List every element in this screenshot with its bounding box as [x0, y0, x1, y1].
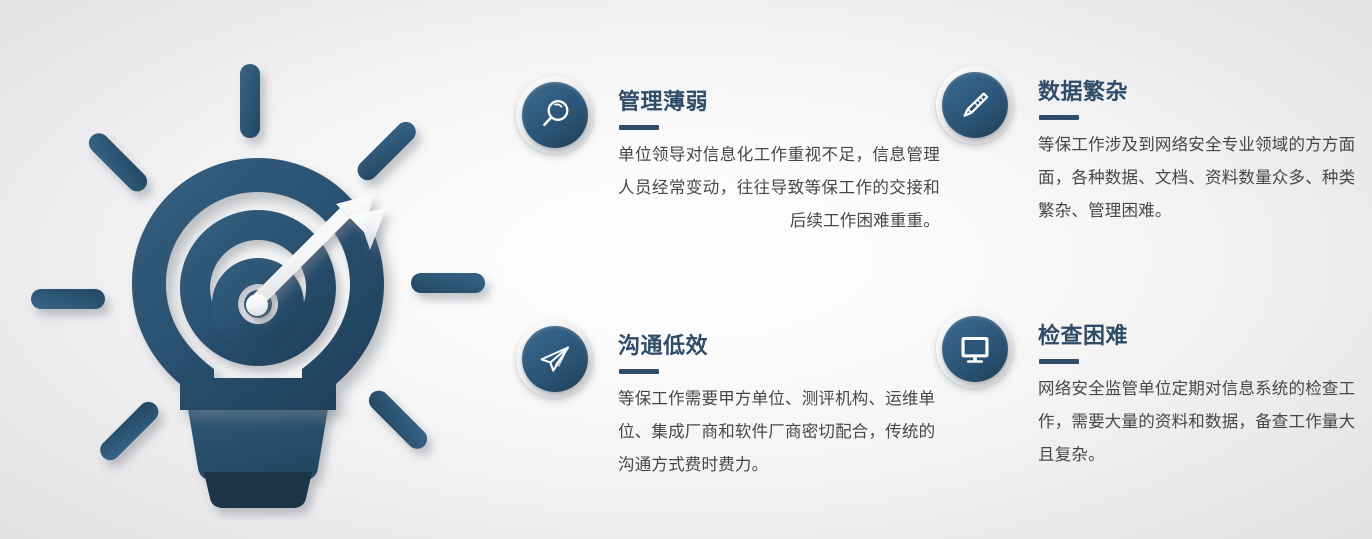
card-title: 沟通低效: [618, 333, 940, 359]
card-body: 检查困难 网络安全监管单位定期对信息系统的检查工作，需要大量的资料和数据，备查工…: [1014, 310, 1362, 472]
paper-plane-icon: [516, 320, 594, 398]
monitor-icon: [936, 310, 1014, 388]
pencil-icon: [936, 66, 1014, 144]
card-description: 单位领导对信息化工作重视不足，信息管理人员经常变动，往往导致等保工作的交接和后续…: [618, 139, 940, 238]
card-description: 等保工作涉及到网络安全专业领域的方方面面，各种数据、文档、资料数量众多、种类繁杂…: [1038, 129, 1362, 228]
pain-point-cards: 管理薄弱 单位领导对信息化工作重视不足，信息管理人员经常变动，往往导致等保工作的…: [516, 66, 1362, 496]
title-underline: [1039, 359, 1079, 364]
card-body: 管理薄弱 单位领导对信息化工作重视不足，信息管理人员经常变动，往往导致等保工作的…: [594, 76, 940, 238]
title-underline: [619, 125, 659, 130]
card-body: 沟通低效 等保工作需要甲方单位、测评机构、运维单位、集成厂商和软件厂商密切配合，…: [594, 320, 940, 482]
magnifier-icon: [516, 76, 594, 154]
infographic-stage: 管理薄弱 单位领导对信息化工作重视不足，信息管理人员经常变动，往往导致等保工作的…: [0, 0, 1372, 539]
card-communication-inefficient[interactable]: 沟通低效 等保工作需要甲方单位、测评机构、运维单位、集成厂商和软件厂商密切配合，…: [516, 320, 940, 482]
card-inspection-difficult[interactable]: 检查困难 网络安全监管单位定期对信息系统的检查工作，需要大量的资料和数据，备查工…: [936, 310, 1362, 472]
lightbulb-base: [186, 397, 330, 508]
card-data-complex[interactable]: 数据繁杂 等保工作涉及到网络安全专业领域的方方面面，各种数据、文档、资料数量众多…: [936, 66, 1362, 228]
card-management-weak[interactable]: 管理薄弱 单位领导对信息化工作重视不足，信息管理人员经常变动，往往导致等保工作的…: [516, 76, 940, 238]
target-rings: [180, 210, 336, 366]
card-description: 网络安全监管单位定期对信息系统的检查工作，需要大量的资料和数据，备查工作量大且复…: [1038, 373, 1362, 472]
card-body: 数据繁杂 等保工作涉及到网络安全专业领域的方方面面，各种数据、文档、资料数量众多…: [1014, 66, 1362, 228]
card-title: 数据繁杂: [1038, 79, 1362, 105]
card-title: 管理薄弱: [618, 89, 940, 115]
title-underline: [619, 369, 659, 374]
lightbulb-target-icon: [18, 62, 498, 520]
title-underline: [1039, 115, 1079, 120]
card-description: 等保工作需要甲方单位、测评机构、运维单位、集成厂商和软件厂商密切配合，传统的沟通…: [618, 383, 940, 482]
card-title: 检查困难: [1038, 323, 1362, 349]
